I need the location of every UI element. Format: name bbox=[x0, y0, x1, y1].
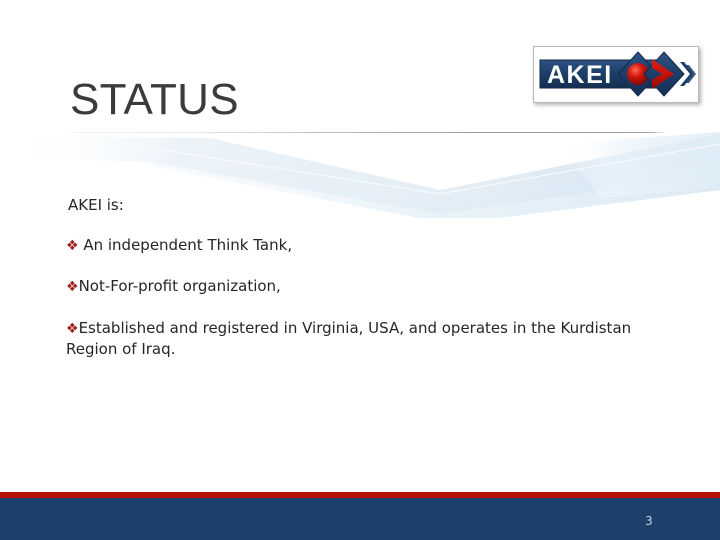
page-title: STATUS bbox=[70, 74, 239, 126]
slide-number: 3 bbox=[634, 514, 664, 528]
slide-body: AKEI is: ❖ An independent Think Tank, ❖N… bbox=[66, 196, 646, 380]
akei-logo-text: AKEI bbox=[547, 61, 613, 89]
presentation-slide: STATUS bbox=[0, 0, 720, 540]
diamond-bullet-icon: ❖ bbox=[66, 237, 79, 256]
list-item-label: Established and registered in Virginia, … bbox=[66, 319, 631, 358]
footer-navy-band bbox=[0, 498, 720, 540]
list-item-label: An independent Think Tank, bbox=[79, 236, 293, 254]
diamond-bullet-icon: ❖ bbox=[66, 319, 79, 339]
body-intro-line: AKEI is: bbox=[66, 196, 646, 215]
body-intro-text: AKEI is: bbox=[68, 196, 124, 214]
list-item: ❖Established and registered in Virginia,… bbox=[66, 318, 646, 359]
list-item: ❖Not-For-profit organization, bbox=[66, 277, 646, 297]
list-item: ❖ An independent Think Tank, bbox=[66, 236, 646, 256]
diamond-bullet-icon: ❖ bbox=[66, 278, 79, 297]
akei-logo: AKEI bbox=[533, 46, 699, 103]
title-divider bbox=[68, 132, 666, 133]
list-item-label: Not-For-profit organization, bbox=[79, 277, 281, 295]
